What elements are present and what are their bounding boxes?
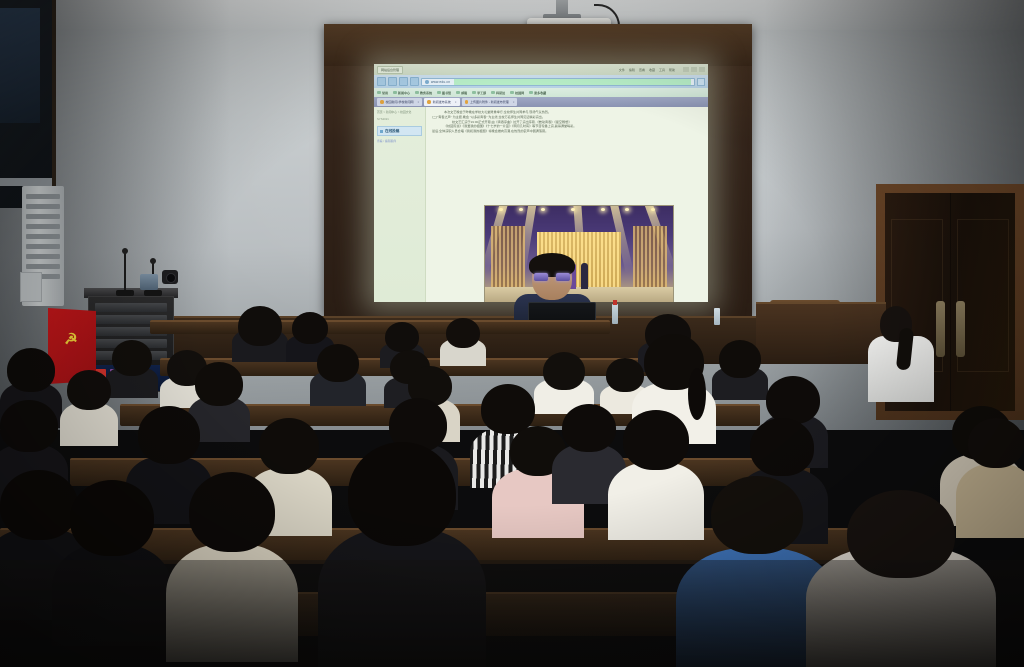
bookmark-icon (377, 91, 381, 95)
bookmark-label: 邮箱 (461, 91, 467, 95)
menu-item-0[interactable]: 文件 (619, 68, 625, 72)
sidebar-section-title: 在线投稿 (385, 129, 399, 134)
bookmark-4[interactable]: 邮箱 (456, 91, 467, 95)
projector-mount (556, 0, 568, 20)
bookmarks-bar: 常用 新闻中心 教务系统 图书馆 邮箱 学工部 科研处 校园网 更多收藏 (374, 88, 708, 97)
audience-member (310, 344, 366, 406)
address-bar[interactable]: www.edu.cn (421, 78, 695, 86)
bookmark-label: 科研处 (496, 91, 505, 95)
window-sill (0, 178, 52, 186)
audience-area (0, 300, 1024, 667)
bookmark-icon (415, 91, 419, 95)
lecture-hall-photo: 网站后台管理 文件 编辑 查看 收藏 工具 帮助 (0, 0, 1024, 667)
bookmark-1[interactable]: 新闻中心 (393, 91, 410, 95)
sidebar-subitem[interactable]: 查看 / 编辑稿件 (377, 139, 422, 143)
menu-item-2[interactable]: 查看 (639, 68, 645, 72)
bookmark-icon (456, 91, 460, 95)
forward-icon[interactable] (388, 77, 397, 86)
tab-0[interactable]: 校园新闻-学校新闻网 × (377, 98, 422, 106)
bookmark-icon (510, 91, 514, 95)
tab-2[interactable]: 上传图片附件 - 新闻发布管理 × (462, 98, 518, 106)
tab-1[interactable]: 新闻发布系统 × (424, 98, 459, 106)
bookmark-5[interactable]: 学工部 (472, 91, 486, 95)
tab-close-icon[interactable]: × (418, 100, 420, 104)
bookmark-icon (491, 91, 495, 95)
frame-top-panel (324, 24, 752, 66)
audience-member (52, 480, 172, 646)
sidebar-item-online-submission[interactable]: 在线投稿 (377, 126, 422, 136)
go-button[interactable] (697, 78, 705, 86)
tab-label: 校园新闻-学校新闻网 (386, 100, 414, 104)
sidebar-breadcrumb: 首页 > 新闻中心 > 校园文化 (377, 110, 422, 114)
audience-member (60, 370, 118, 446)
bookmark-2[interactable]: 教务系统 (415, 91, 432, 95)
browser-window-title: 网站后台管理 (377, 66, 403, 74)
browser-tab-strip: 校园新闻-学校新闻网 × 新闻发布系统 × 上传图片附件 - 新闻发布管理 × (374, 97, 708, 107)
bookmark-label: 教务系统 (420, 91, 432, 95)
audience-member (232, 306, 288, 362)
menu-item-5[interactable]: 帮助 (669, 68, 675, 72)
refresh-icon[interactable] (399, 77, 408, 86)
maximize-icon[interactable] (691, 67, 697, 72)
bookmark-label: 更多收藏 (534, 91, 546, 95)
menu-item-4[interactable]: 工具 (659, 68, 665, 72)
bookmark-0[interactable]: 常用 (377, 91, 388, 95)
bookmark-label: 新闻中心 (398, 91, 410, 95)
minimize-icon[interactable] (683, 67, 689, 72)
favicon-icon (465, 100, 469, 104)
address-text: www.edu.cn (431, 80, 450, 84)
address-selection-highlight (454, 79, 691, 85)
control-panel-box[interactable] (140, 274, 158, 290)
favicon-icon (380, 100, 384, 104)
document-camera-icon (162, 270, 178, 284)
bookmark-label: 校园网 (515, 91, 524, 95)
menu-item-3[interactable]: 收藏 (649, 68, 655, 72)
close-icon[interactable] (699, 67, 705, 72)
lock-icon (425, 80, 429, 84)
bookmark-icon (393, 91, 397, 95)
window-glass (0, 8, 40, 123)
browser-menu-bar[interactable]: 文件 编辑 查看 收藏 工具 帮助 (619, 68, 675, 72)
document-icon (380, 130, 383, 133)
browser-toolbar: www.edu.cn (374, 75, 708, 88)
wall-plate (20, 272, 42, 302)
presenter-glasses-icon (534, 273, 570, 281)
tab-label: 新闻发布系统 (433, 100, 451, 104)
tab-close-icon[interactable]: × (513, 100, 515, 104)
bookmark-label: 学工部 (477, 91, 486, 95)
tab-close-icon[interactable]: × (455, 100, 457, 104)
page-sidebar: 首页 > 新闻中心 > 校园文化 SYS2021 在线投稿 查看 / 编辑稿件 (374, 107, 426, 302)
sidebar-code: SYS2021 (377, 117, 422, 121)
bookmark-icon (472, 91, 476, 95)
audience-member (440, 318, 486, 366)
favicon-icon (427, 100, 431, 104)
bookmark-3[interactable]: 图书馆 (437, 91, 451, 95)
home-icon[interactable] (410, 77, 419, 86)
audience-member (956, 418, 1024, 538)
bookmark-6[interactable]: 科研处 (491, 91, 505, 95)
bookmark-icon (437, 91, 441, 95)
bookmark-label: 图书馆 (442, 91, 451, 95)
audience-member (166, 472, 298, 662)
bookmark-8[interactable]: 更多收藏 (529, 91, 546, 95)
back-icon[interactable] (377, 77, 386, 86)
browser-title-bar: 网站后台管理 文件 编辑 查看 收藏 工具 帮助 (374, 64, 708, 75)
window-controls[interactable] (683, 67, 705, 72)
tab-label: 上传图片附件 - 新闻发布管理 (470, 100, 509, 104)
bookmark-label: 常用 (382, 91, 388, 95)
menu-item-1[interactable]: 编辑 (629, 68, 635, 72)
bookmark-icon (529, 91, 533, 95)
audience-member (318, 442, 486, 667)
bookmark-7[interactable]: 校园网 (510, 91, 524, 95)
article-line-4: 最后,全体演职人员合唱《我和我的祖国》将晚会推向高潮,在热烈的掌声中圆满落幕。 (432, 129, 702, 134)
upper-left-window-panel (0, 0, 56, 208)
